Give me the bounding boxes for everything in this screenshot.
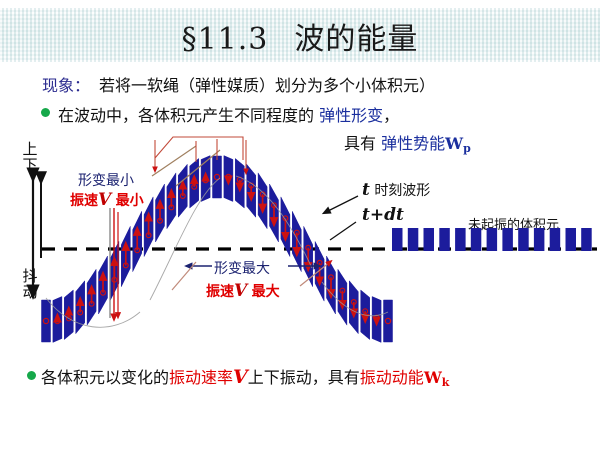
unstarted-volume-element — [455, 228, 466, 251]
unstarted-volume-element — [424, 228, 435, 251]
unstarted-volume-element — [518, 228, 529, 251]
slide-root: §11.3波的能量 现象：若将一软绳（弹性媒质）划分为多个小体积元） 在波动中，… — [0, 0, 600, 450]
unstarted-volume-element — [439, 228, 450, 251]
unstarted-volume-element — [487, 228, 498, 251]
unstarted-volume-element — [566, 228, 577, 251]
unstarted-volume-element — [581, 228, 592, 251]
unstarted-volume-element — [502, 228, 513, 251]
wave-diagram — [0, 0, 600, 450]
wave-envelope-guides — [46, 176, 388, 327]
unstarted-volume-element — [471, 228, 482, 251]
waveform-label-leaders — [326, 196, 358, 240]
unstarted-volume-element — [392, 228, 403, 251]
unstarted-volume-element — [408, 228, 419, 251]
up-down-arrow — [33, 175, 41, 292]
unstarted-volume-element — [550, 228, 561, 251]
unstarted-volume-element — [534, 228, 545, 251]
